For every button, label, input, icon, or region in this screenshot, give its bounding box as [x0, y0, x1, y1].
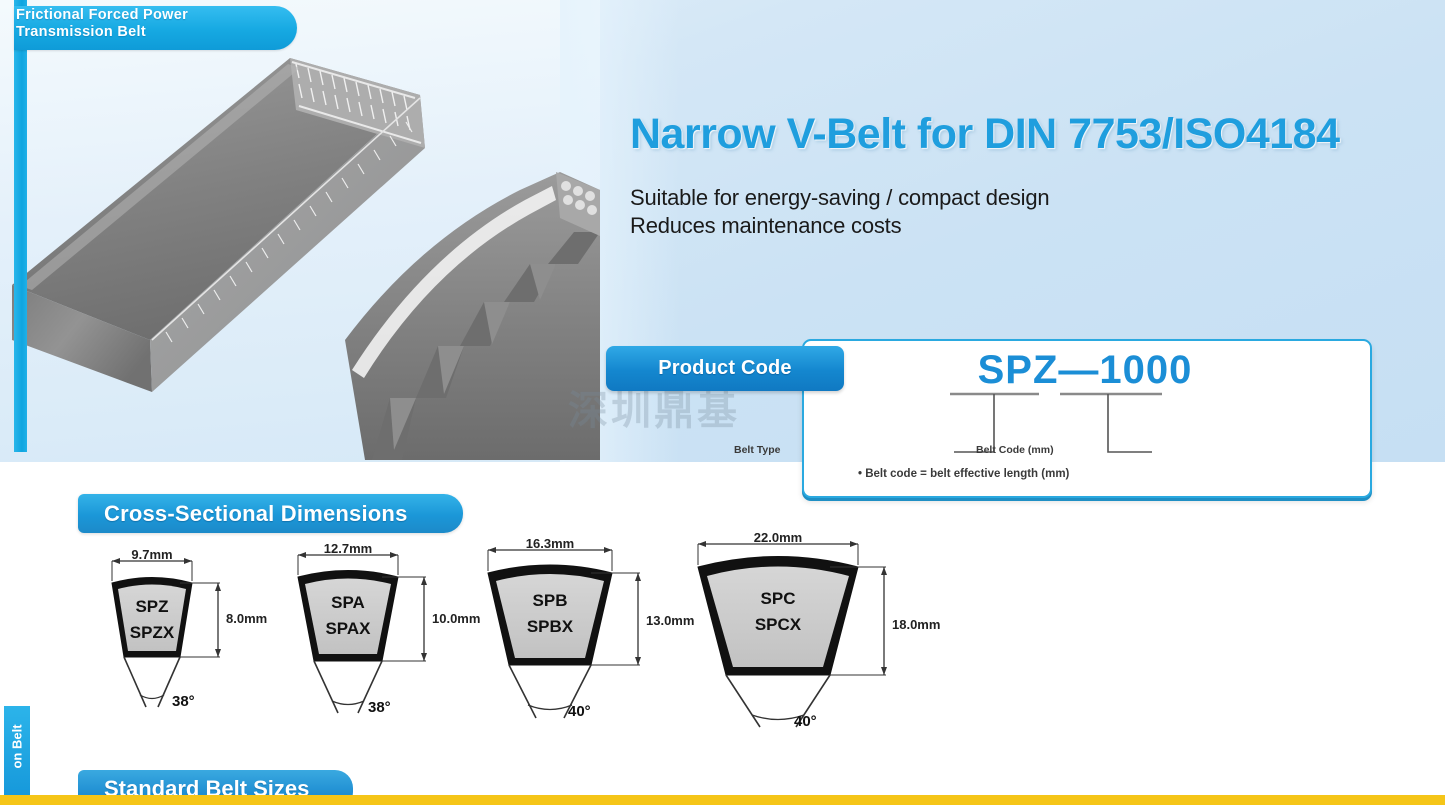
dim-width-spc: 22.0mm [688, 530, 868, 545]
product-code-section: SPZ—1000 Belt Type Belt Code (mm) • Belt… [606, 334, 1376, 502]
label-spc: SPC [745, 589, 811, 609]
cogged-belt [345, 172, 600, 460]
dim-width-spb: 16.3mm [472, 536, 628, 551]
label-spz: SPZ [119, 597, 185, 617]
side-tab: on Belt [4, 706, 30, 798]
cross-section-diagrams: 9.7mm SPZ SPZX 8.0mm 38° 12.7mm SPA SPAX… [60, 535, 990, 760]
product-code-tab: Product Code [606, 346, 844, 391]
dim-height-spb: 13.0mm [646, 613, 694, 628]
hero-subtitle-1: Suitable for energy-saving / compact des… [630, 185, 1410, 211]
product-code-tab-label: Product Code [606, 346, 844, 391]
label-spcx: SPCX [738, 615, 818, 635]
datasheet-page: Frictional Forced Power Transmission Bel… [0, 0, 1445, 805]
label-spbx: SPBX [510, 617, 590, 637]
label-spax: SPAX [308, 619, 388, 639]
callout-belt-type: Belt Type [734, 444, 780, 456]
label-spzx: SPZX [112, 623, 192, 643]
dim-angle-spb: 40° [568, 703, 591, 720]
header-tab-label: Frictional Forced Power Transmission Bel… [16, 7, 274, 41]
cross-section-tab: Cross-Sectional Dimensions [78, 494, 463, 533]
callout-belt-code: Belt Code (mm) [976, 444, 1054, 456]
page-title: Narrow V-Belt for DIN 7753/ISO4184 [630, 110, 1420, 159]
side-tab-label: on Belt [10, 701, 25, 793]
dim-height-spz: 8.0mm [226, 611, 267, 626]
belt-product-image [0, 40, 600, 460]
dim-height-spa: 10.0mm [432, 611, 480, 626]
cross-section-svg [60, 535, 990, 760]
belt-illustration [0, 40, 600, 460]
label-spa: SPA [315, 593, 381, 613]
hero-subtitle-2: Reduces maintenance costs [630, 213, 1410, 239]
bottom-accent-bar [0, 795, 1445, 805]
product-code-note: • Belt code = belt effective length (mm) [858, 468, 1069, 480]
dim-angle-spa: 38° [368, 699, 391, 716]
dim-width-spa: 12.7mm [282, 541, 414, 556]
dim-width-spz: 9.7mm [96, 547, 208, 562]
dim-angle-spz: 38° [172, 693, 195, 710]
dim-height-spc: 18.0mm [892, 617, 940, 632]
dim-angle-spc: 40° [794, 713, 817, 730]
left-accent-bar [14, 0, 27, 452]
cross-section-tab-label: Cross-Sectional Dimensions [78, 494, 463, 533]
label-spb: SPB [517, 591, 583, 611]
